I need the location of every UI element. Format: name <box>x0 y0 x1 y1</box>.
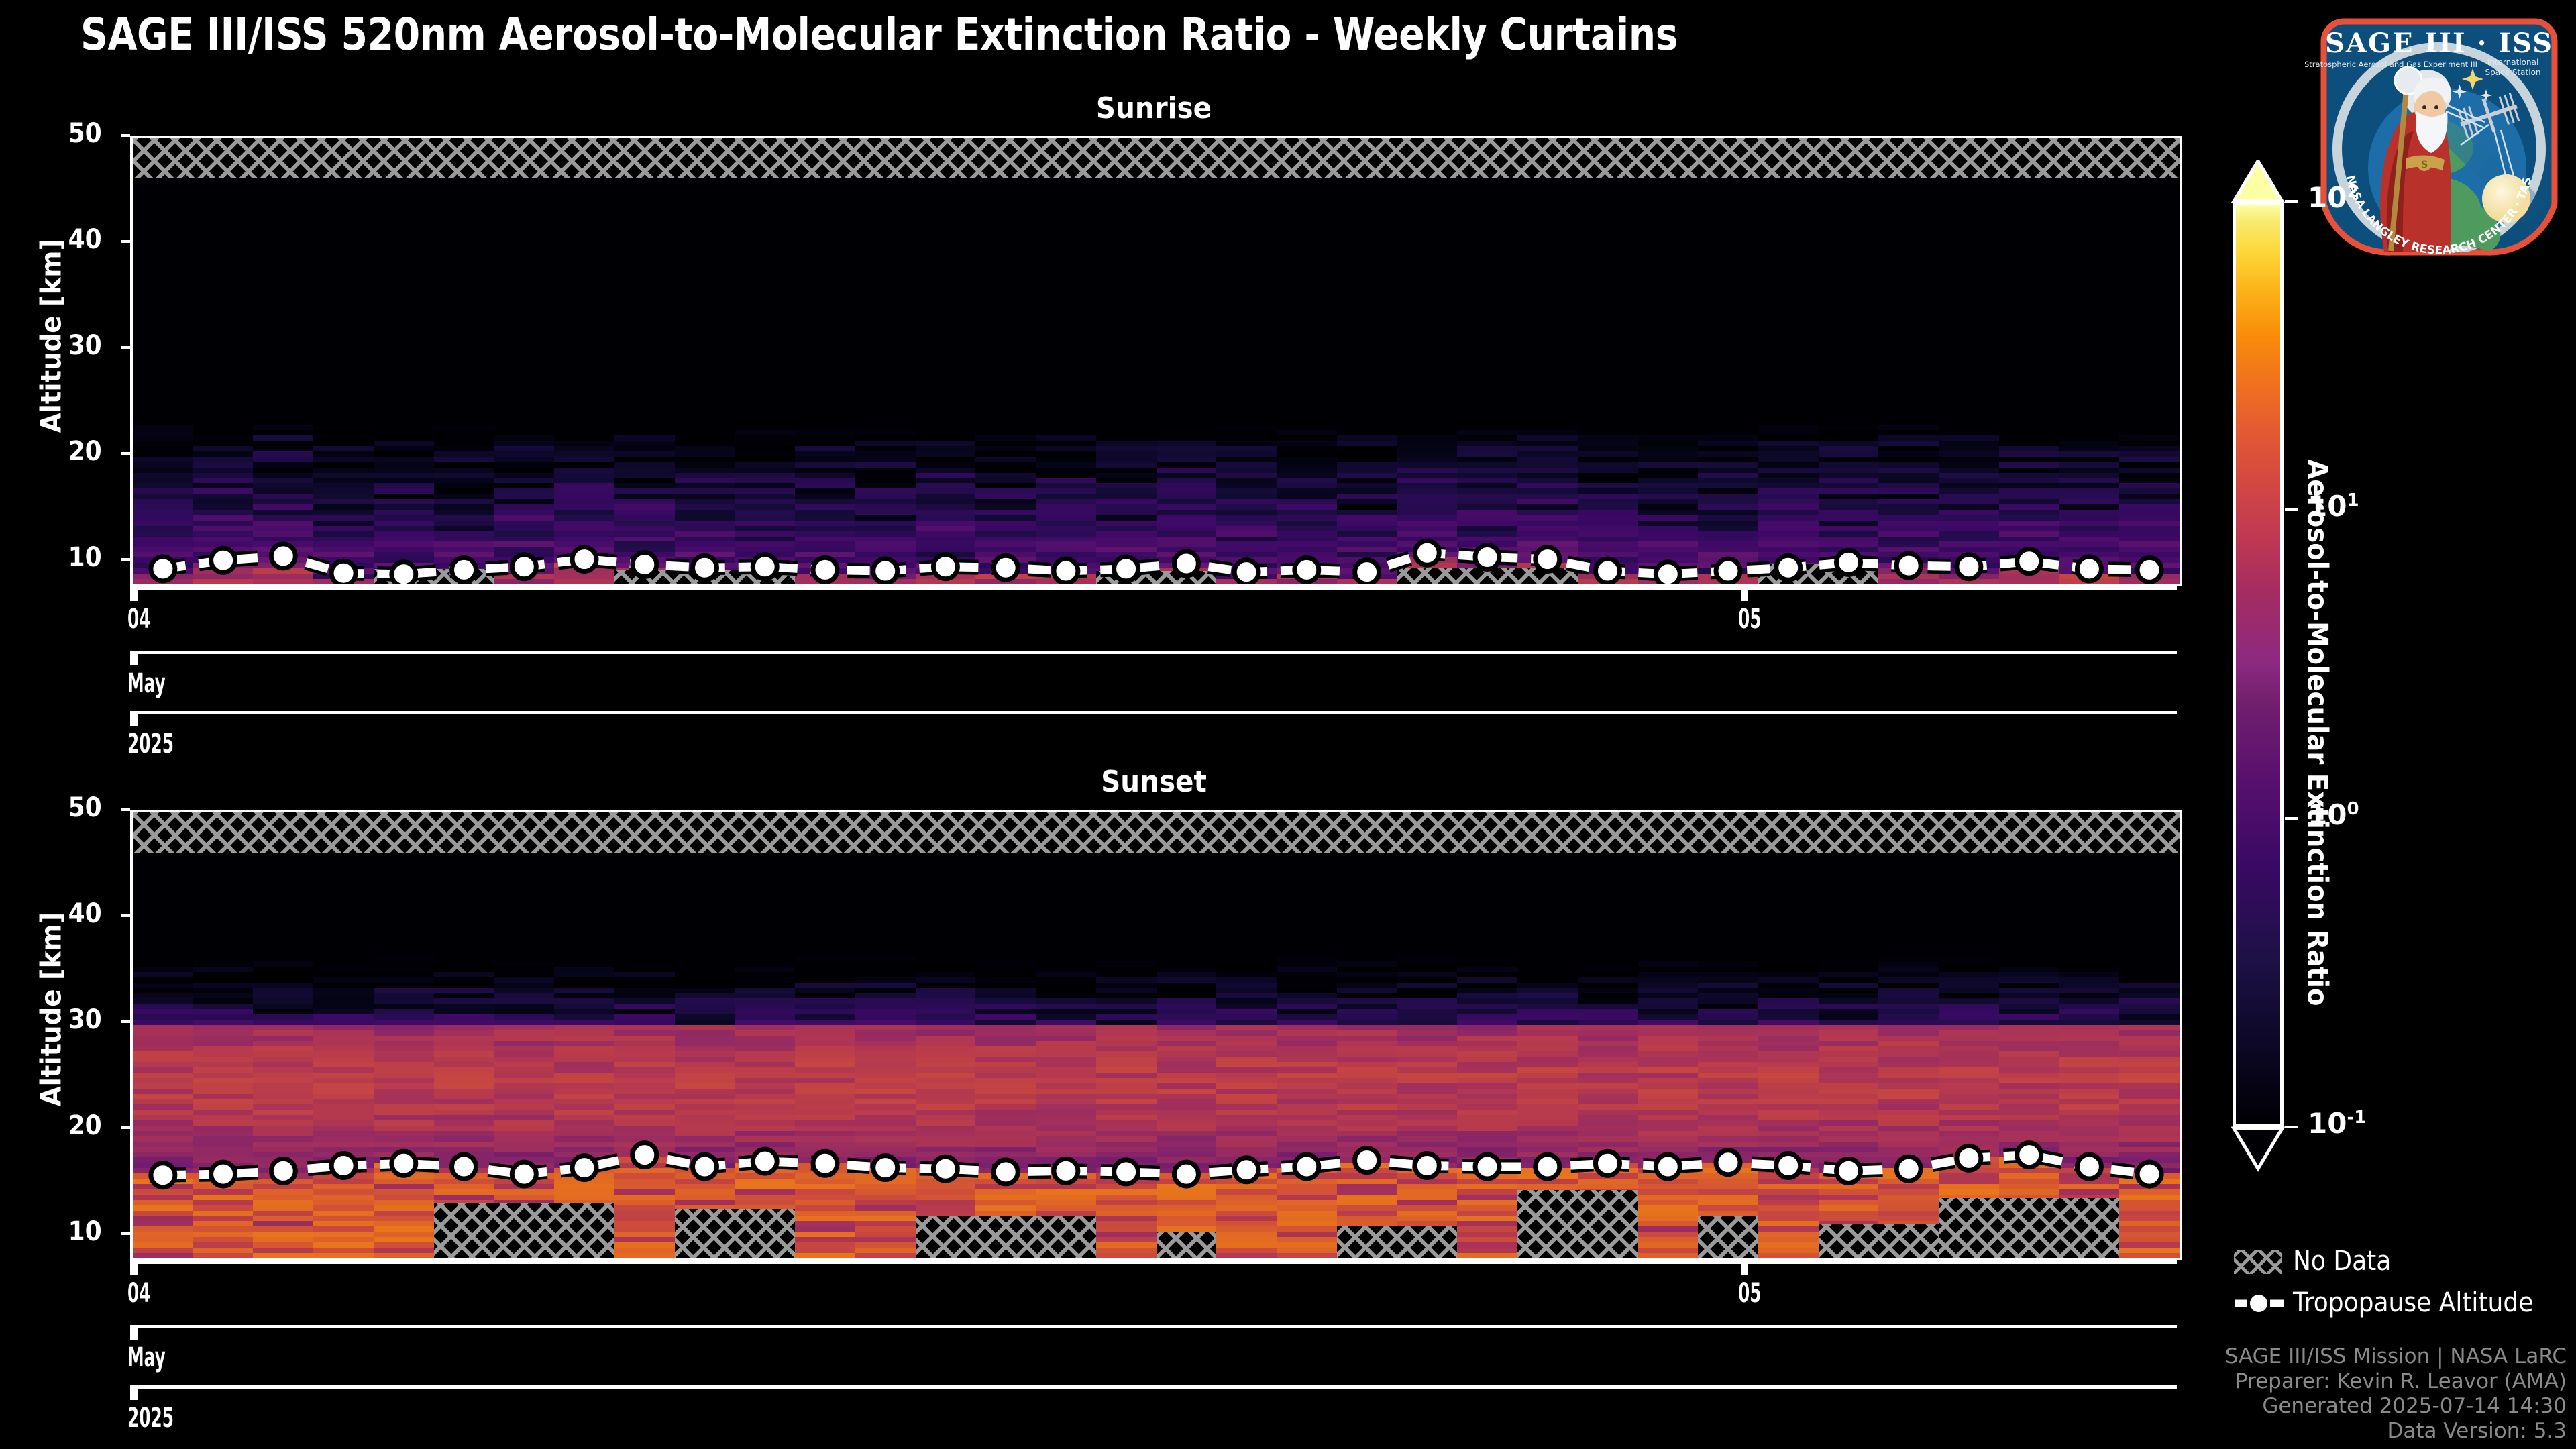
tropopause-marker <box>2077 1155 2101 1179</box>
legend-label-no-data: No Data <box>2293 1246 2391 1277</box>
panel-title-sunrise: Sunrise <box>209 91 2098 125</box>
y-tick-mark <box>121 452 130 455</box>
y-tick-mark <box>121 558 130 561</box>
tropopause-marker <box>1896 553 1921 578</box>
tropopause-marker <box>1776 1154 1801 1178</box>
y-tick-label: 30 <box>68 330 102 361</box>
tropopause-marker <box>392 1151 416 1175</box>
legend-label-tropopause: Tropopause Altitude <box>2293 1287 2533 1318</box>
tropopause-marker <box>1114 557 1138 581</box>
y-tick-mark <box>121 134 130 137</box>
tropopause-marker <box>753 555 777 579</box>
tropopause-marker <box>1536 1155 1560 1179</box>
tropopause-marker <box>1295 557 1319 582</box>
colorbar-tick-exponent: -1 <box>2347 1108 2366 1128</box>
tropopause-marker <box>512 555 536 579</box>
y-tick-label: 40 <box>68 224 102 255</box>
tropopause-marker <box>1957 555 1981 579</box>
tropopause-marker <box>331 1154 356 1178</box>
tropopause-marker <box>2137 1162 2161 1186</box>
logo-title: SAGE III · ISS <box>2325 28 2553 59</box>
no-data-hatch-icon <box>2234 1250 2282 1274</box>
colorbar-tick-mantissa: 10 <box>2308 181 2347 214</box>
logo-subtitle-left: Stratospheric Aerosol and Gas Experiment… <box>2305 60 2477 69</box>
x-tick-mark <box>1741 1264 1748 1275</box>
x-tick-label: 05 <box>1738 1278 1762 1309</box>
legend: No Data Tropopause Altitude <box>2234 1244 2569 1332</box>
colorbar-tick-mantissa: 10 <box>2308 1107 2347 1140</box>
y-tick-label: 20 <box>68 1110 102 1141</box>
tropopause-marker <box>1716 559 1740 583</box>
colorbar-tick-label: 10-1 <box>2308 1107 2366 1140</box>
heatmap-sunrise[interactable] <box>130 136 2182 586</box>
colorbar-title: Aerosol-to-Molecular Extinction Ratio <box>2302 460 2334 892</box>
colorbar-tick-exponent: 2 <box>2347 182 2359 202</box>
tropopause-marker <box>151 1163 175 1187</box>
footer-line-preparer: Preparer: Kevin R. Leavor (AMA) <box>2225 1369 2567 1394</box>
legend-item-tropopause[interactable]: Tropopause Altitude <box>2234 1286 2569 1321</box>
x-axis-level-line <box>130 651 2177 654</box>
x-tick-label: 04 <box>127 604 151 635</box>
tropopause-marker <box>572 547 596 572</box>
x-axis-level-line <box>130 1385 2177 1389</box>
tropopause-marker <box>1234 1158 1258 1182</box>
tropopause-marker <box>211 1162 235 1186</box>
colorbar-tick-mark <box>2285 508 2298 511</box>
tropopause-marker <box>1596 1151 1620 1175</box>
y-tick-label: 30 <box>68 1004 102 1035</box>
tropopause-line-icon <box>2234 1290 2285 1317</box>
panel-title-sunset: Sunset <box>209 765 2098 799</box>
y-tick-label: 50 <box>68 792 102 823</box>
tropopause-marker <box>2017 549 2041 574</box>
x-tick-mark <box>130 1264 138 1275</box>
x-tick-mark <box>130 1389 138 1400</box>
y-tick-label: 50 <box>68 118 102 149</box>
tropopause-marker <box>452 1155 476 1179</box>
y-tick-label: 20 <box>68 436 102 467</box>
colorbar-tick-mark <box>2285 817 2298 820</box>
x-tick-mark <box>130 1328 138 1340</box>
x-axis-level-line <box>130 711 2177 714</box>
y-tick-mark <box>121 240 130 243</box>
tropopause-marker <box>1596 559 1620 583</box>
x-tick-label: 2025 <box>127 729 174 759</box>
logo-subtitle-right-1: International <box>2487 58 2539 67</box>
colorbar[interactable]: 10210110010-1 Aerosol-to-Molecular Extin… <box>2214 161 2576 1207</box>
tropopause-marker <box>1295 1155 1319 1179</box>
colorbar-ticks: 10210110010-1 <box>2214 161 2576 1207</box>
tropopause-marker <box>633 553 657 577</box>
tropopause-marker <box>753 1149 777 1173</box>
tropopause-marker <box>1536 547 1560 572</box>
x-tick-label: 05 <box>1738 604 1762 635</box>
tropopause-marker <box>994 1160 1018 1184</box>
heatmap-sunset[interactable] <box>130 810 2182 1260</box>
tropopause-marker <box>1896 1157 1921 1181</box>
x-tick-mark <box>130 654 138 665</box>
tropopause-marker <box>271 544 295 568</box>
page-title: SAGE III/ISS 520nm Aerosol-to-Molecular … <box>80 9 1962 60</box>
y-tick-mark <box>121 808 130 811</box>
tropopause-marker <box>572 1156 596 1180</box>
x-tick-mark <box>130 590 138 601</box>
tropopause-marker <box>813 557 837 582</box>
x-axis-sunset: 0405May2025 <box>130 1260 2182 1421</box>
x-axis-sunrise: 0405May2025 <box>130 586 2182 747</box>
tropopause-marker <box>151 557 175 581</box>
colorbar-tick-label: 102 <box>2308 181 2359 214</box>
tropopause-marker <box>1054 1159 1078 1183</box>
footer-line-version: Data Version: 5.3 <box>2225 1419 2567 1444</box>
x-tick-mark <box>1741 590 1748 601</box>
y-tick-label: 40 <box>68 898 102 929</box>
tropopause-marker <box>512 1162 536 1186</box>
tropopause-marker <box>1837 550 1861 574</box>
tropopause-marker <box>994 555 1018 580</box>
x-tick-mark <box>130 714 138 726</box>
x-tick-label: 2025 <box>127 1403 174 1434</box>
x-axis-level-line <box>130 586 2177 590</box>
tropopause-marker <box>211 548 235 572</box>
tropopause-marker <box>1174 1162 1198 1186</box>
logo-subtitle-right-2: Space Station <box>2485 68 2540 77</box>
tropopause-marker <box>1174 551 1198 576</box>
y-tick-mark <box>121 1232 130 1235</box>
tropopause-marker <box>1716 1150 1740 1175</box>
tropopause-marker <box>1415 1154 1439 1178</box>
tropopause-marker <box>1957 1146 1981 1170</box>
x-tick-label: May <box>127 668 166 699</box>
colorbar-tick-exponent: 0 <box>2347 799 2359 819</box>
tropopause-marker <box>933 1157 957 1181</box>
y-tick-mark <box>121 914 130 917</box>
tropopause-marker <box>452 557 476 582</box>
tropopause-marker <box>1837 1159 1861 1183</box>
footer-line-mission: SAGE III/ISS Mission | NASA LaRC <box>2225 1344 2567 1369</box>
tropopause-marker <box>2137 557 2161 582</box>
x-tick-label: 04 <box>127 1278 151 1309</box>
tropopause-marker <box>873 559 898 583</box>
colorbar-tick-mark <box>2285 1126 2298 1128</box>
colorbar-tick-exponent: 1 <box>2347 490 2359 511</box>
x-axis-level-line <box>130 1325 2177 1328</box>
tropopause-marker <box>1475 1155 1499 1179</box>
tropopause-marker <box>693 1155 717 1179</box>
y-tick-label: 10 <box>68 1216 102 1247</box>
tropopause-marker <box>331 561 356 585</box>
y-tick-mark <box>121 346 130 349</box>
legend-item-no-data[interactable]: No Data <box>2234 1244 2569 1279</box>
tropopause-marker <box>271 1159 295 1183</box>
tropopause-marker <box>2077 557 2101 581</box>
x-axis-level-line <box>130 1260 2177 1264</box>
tropopause-marker <box>1656 562 1680 586</box>
tropopause-marker <box>2017 1143 2041 1167</box>
y-tick-mark <box>121 1020 130 1023</box>
tropopause-marker <box>633 1143 657 1167</box>
tropopause-marker <box>1355 560 1379 584</box>
y-axis-sunset: 1020304050 <box>0 808 130 1278</box>
y-tick-label: 10 <box>68 542 102 573</box>
tropopause-marker <box>392 562 416 586</box>
tropopause-marker <box>693 555 717 580</box>
x-tick-label: May <box>127 1342 166 1373</box>
colorbar-tick-mark <box>2285 200 2298 203</box>
tropopause-marker <box>1234 560 1258 584</box>
tropopause-marker <box>873 1156 898 1180</box>
tropopause-marker <box>813 1151 837 1175</box>
tropopause-marker <box>1054 559 1078 583</box>
footer-line-generated: Generated 2025-07-14 14:30 <box>2225 1394 2567 1419</box>
tropopause-marker <box>1656 1155 1680 1179</box>
tropopause-marker <box>1114 1160 1138 1184</box>
tropopause-marker <box>1415 541 1439 565</box>
footer-credits: SAGE III/ISS Mission | NASA LaRC Prepare… <box>2225 1344 2567 1444</box>
tropopause-marker <box>1475 545 1499 570</box>
tropopause-marker <box>1776 555 1801 580</box>
y-axis-sunrise: 1020304050 <box>0 134 130 604</box>
tropopause-marker <box>933 555 957 579</box>
y-tick-mark <box>121 1126 130 1129</box>
tropopause-marker <box>1355 1148 1379 1173</box>
